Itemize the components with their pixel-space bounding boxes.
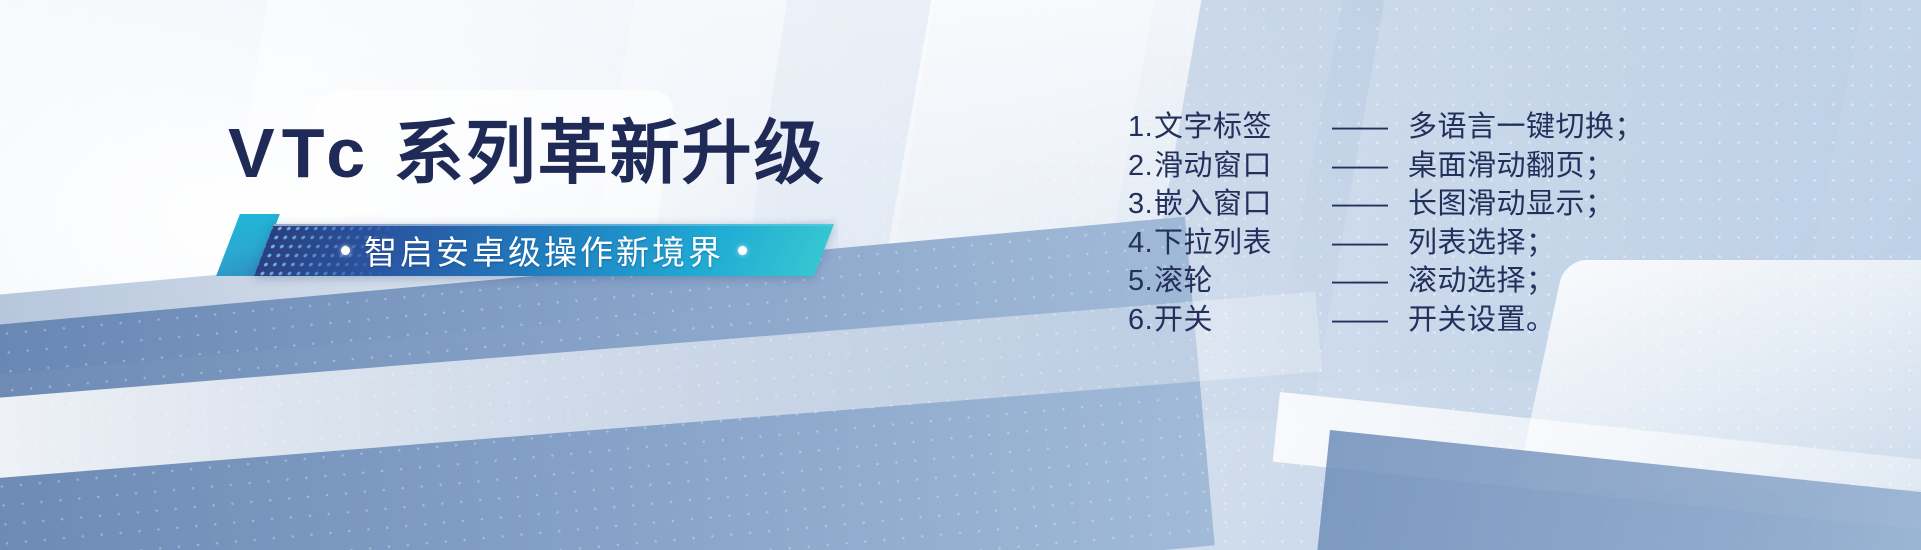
feature-name: 文字标签 <box>1154 108 1332 147</box>
feature-name: 开关 <box>1154 301 1332 340</box>
bg-band-right-blue <box>1303 430 1921 550</box>
title-latin: VTc <box>228 114 372 192</box>
subtitle-ribbon: 智启安卓级操作新境界 <box>228 214 828 276</box>
list-item: 5. 滚轮 —— 滚动选择； <box>1128 262 1644 301</box>
feature-index: 6. <box>1128 301 1154 340</box>
feature-description: 桌面滑动翻页； <box>1408 147 1615 186</box>
list-item: 2. 滑动窗口 —— 桌面滑动翻页； <box>1128 147 1644 186</box>
bg-band-white-diagonal <box>0 292 1322 484</box>
bullet-dot-right-icon <box>738 246 747 255</box>
feature-index: 2. <box>1128 147 1154 186</box>
feature-description: 长图滑动显示； <box>1408 185 1615 224</box>
feature-index: 4. <box>1128 224 1154 263</box>
feature-name: 滚轮 <box>1154 262 1332 301</box>
feature-index: 3. <box>1128 185 1154 224</box>
page-title: VTc 系列革新升级 <box>228 118 888 188</box>
list-item: 4. 下拉列表 —— 列表选择； <box>1128 224 1644 263</box>
feature-index: 5. <box>1128 262 1154 301</box>
feature-separator: —— <box>1332 224 1408 263</box>
feature-name: 嵌入窗口 <box>1154 185 1332 224</box>
feature-description: 列表选择； <box>1408 224 1556 263</box>
feature-index: 1. <box>1128 108 1154 147</box>
ribbon-label: 智启安卓级操作新境界 <box>364 226 724 274</box>
feature-separator: —— <box>1332 185 1408 224</box>
title-cjk: 系列革新升级 <box>394 114 826 192</box>
list-item: 1. 文字标签 —— 多语言一键切换； <box>1128 108 1644 147</box>
feature-separator: —— <box>1332 262 1408 301</box>
feature-description: 开关设置。 <box>1408 301 1556 340</box>
feature-separator: —— <box>1332 147 1408 186</box>
feature-list: 1. 文字标签 —— 多语言一键切换； 2. 滑动窗口 —— 桌面滑动翻页； 3… <box>1128 108 1644 339</box>
feature-name: 滑动窗口 <box>1154 147 1332 186</box>
feature-name: 下拉列表 <box>1154 224 1332 263</box>
headline-block: VTc 系列革新升级 智启安卓级操作新境界 <box>228 118 888 276</box>
feature-description: 滚动选择； <box>1408 262 1556 301</box>
bullet-dot-left-icon <box>341 246 350 255</box>
list-item: 3. 嵌入窗口 —— 长图滑动显示； <box>1128 185 1644 224</box>
ribbon-text-group: 智启安卓级操作新境界 <box>264 224 824 276</box>
feature-separator: —— <box>1332 108 1408 147</box>
feature-separator: —— <box>1332 301 1408 340</box>
list-item: 6. 开关 —— 开关设置。 <box>1128 301 1644 340</box>
feature-description: 多语言一键切换； <box>1408 108 1644 147</box>
bg-band-right-white <box>1273 392 1921 541</box>
promo-banner: VTc 系列革新升级 智启安卓级操作新境界 1. 文字标签 —— 多语言一键切换… <box>0 0 1921 550</box>
